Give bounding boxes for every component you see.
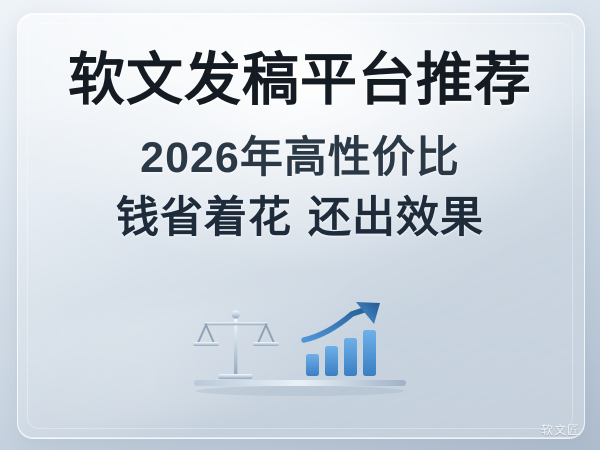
illustration-group (180, 296, 420, 396)
page-title: 软文发稿平台推荐 (68, 52, 532, 109)
illustration-shadow (196, 386, 404, 396)
balance-scales-icon (193, 310, 279, 379)
poster-canvas: 软文发稿平台推荐 2026年高性价比 钱省着花 还出效果 (0, 0, 600, 450)
illustration-base (194, 380, 406, 386)
watermark-label: 软文匠 (541, 421, 580, 438)
subtitle-secondary: 钱省着花 还出效果 (116, 197, 484, 240)
subtitle-secondary-left: 钱省着花 (116, 197, 292, 240)
subtitle-secondary-right: 还出效果 (308, 197, 484, 240)
subtitle-primary: 2026年高性价比 (140, 137, 460, 180)
growth-bar-chart-icon (304, 302, 380, 376)
